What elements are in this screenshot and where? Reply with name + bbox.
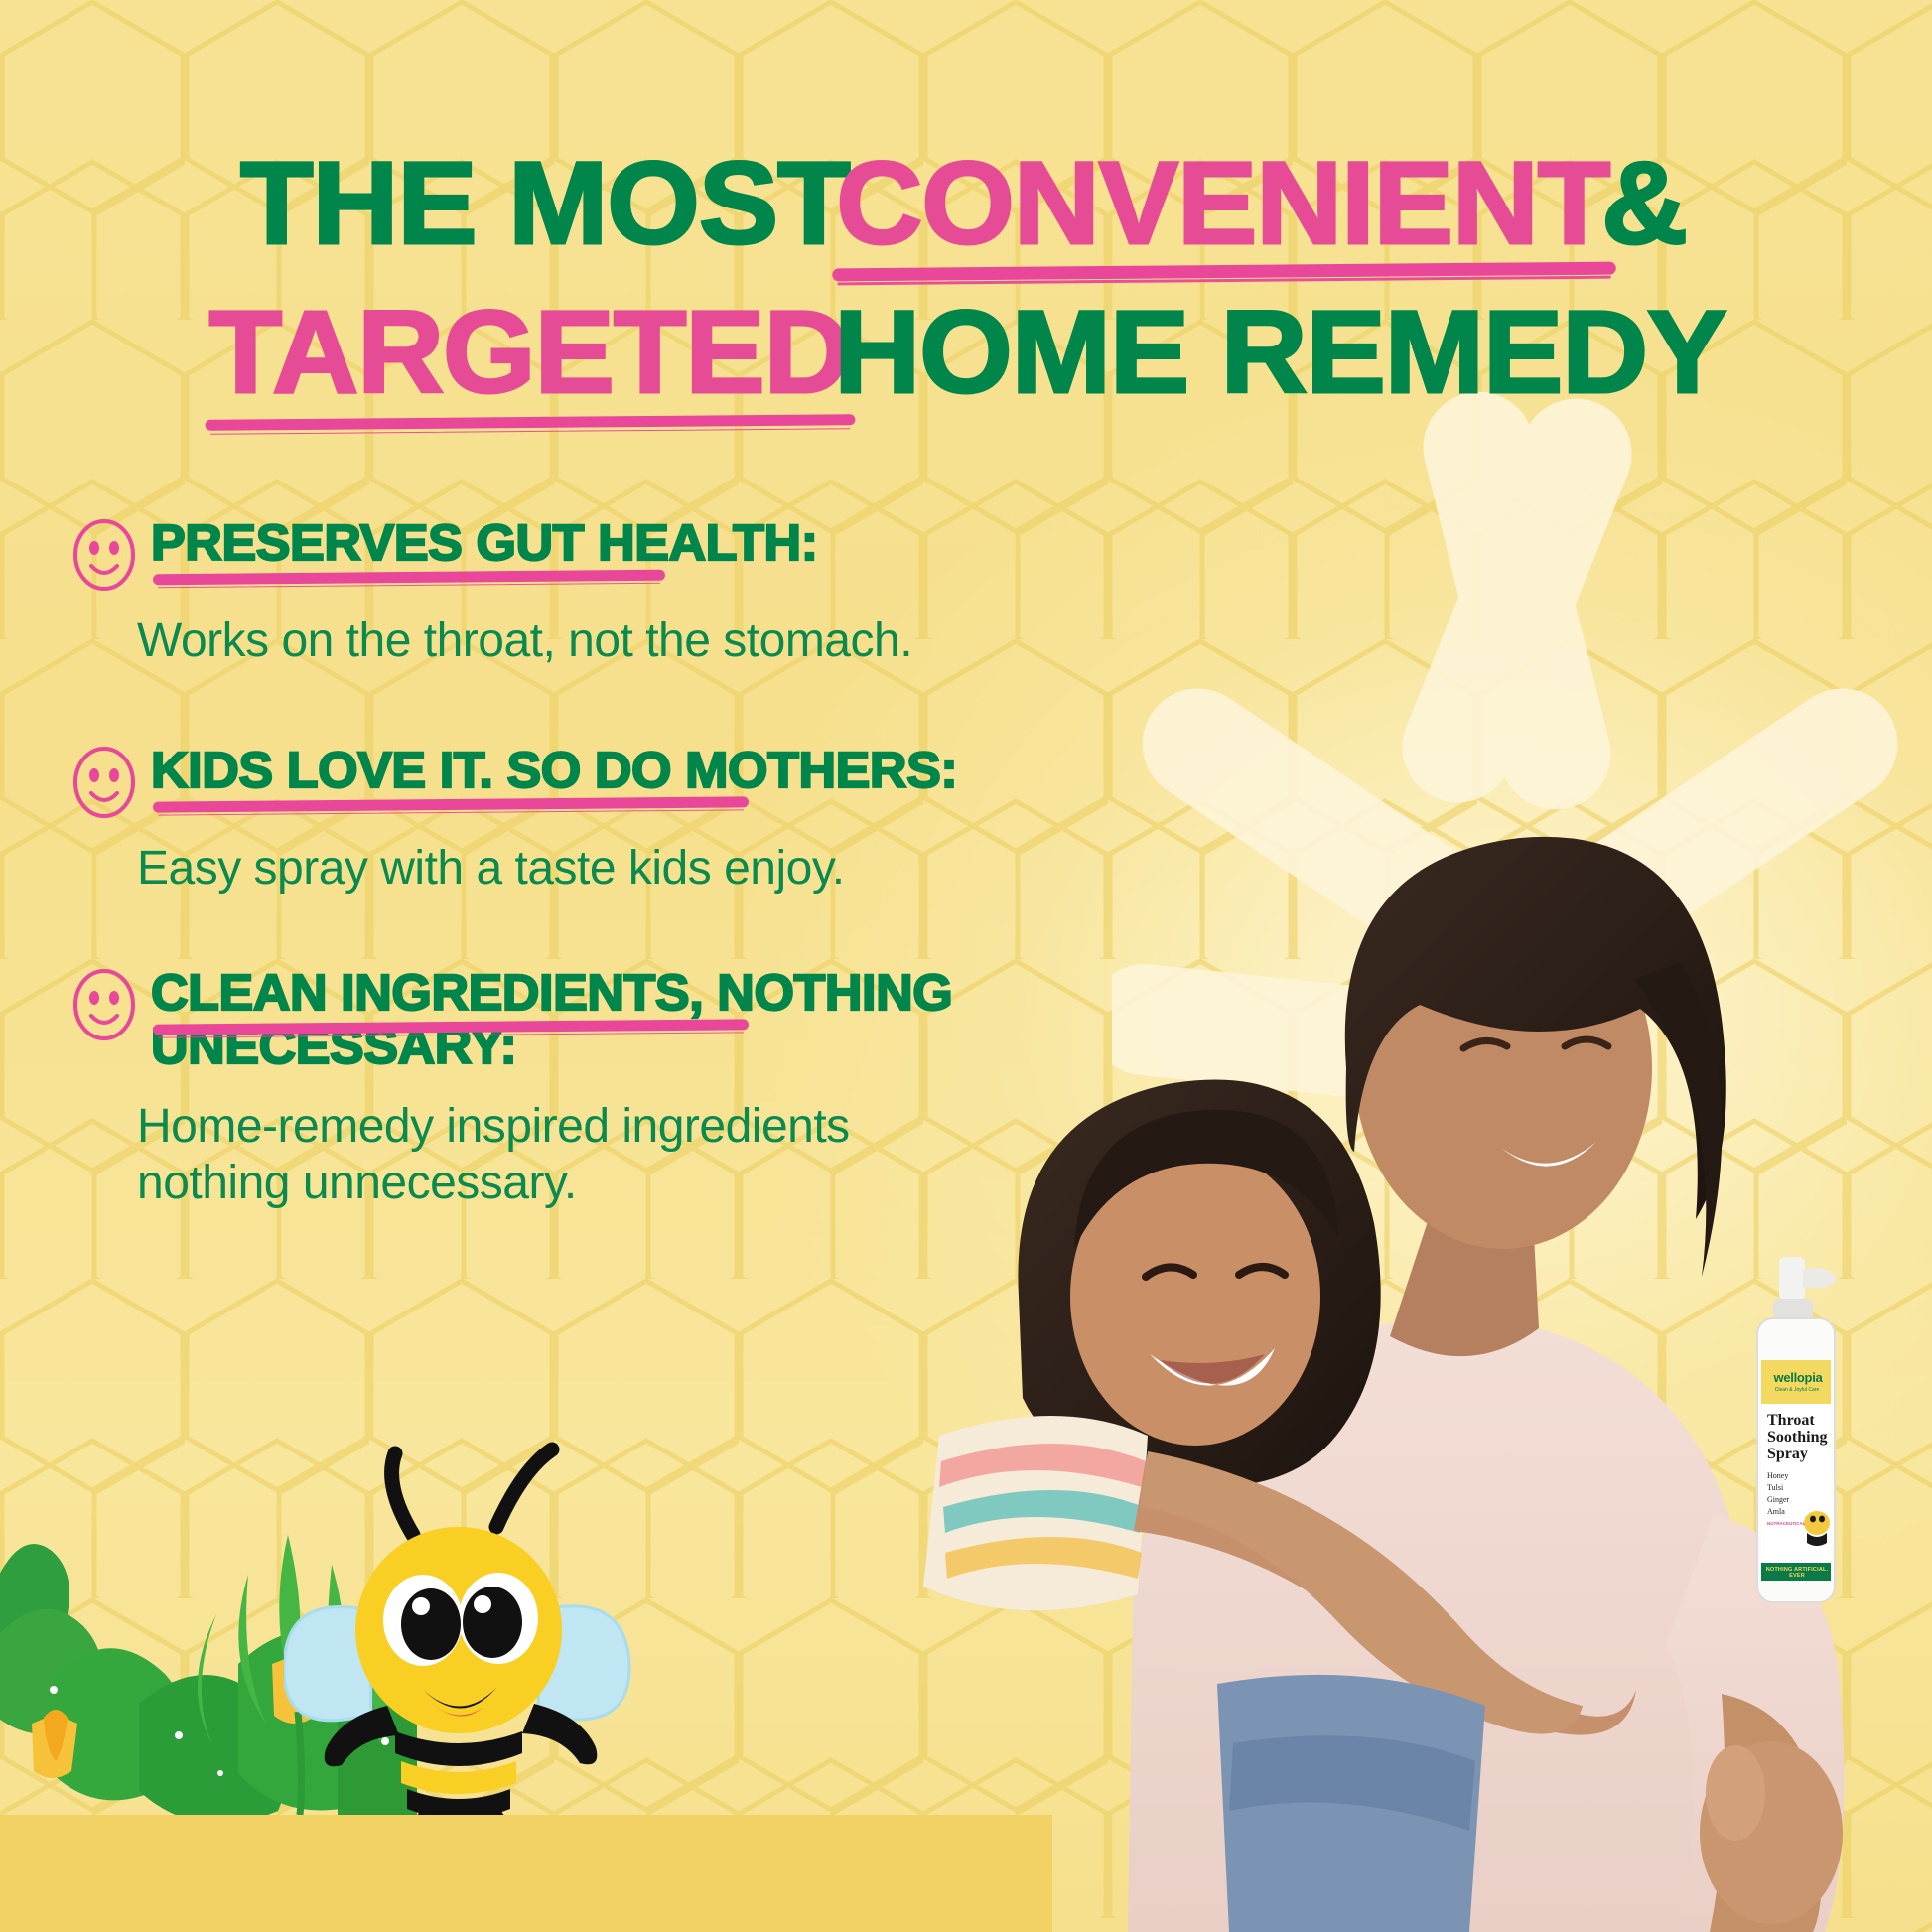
bottle-brand: wellopia xyxy=(1767,1370,1829,1385)
bottle-name-line3: Spray xyxy=(1767,1446,1808,1463)
bee-mascot xyxy=(284,1416,641,1833)
headline-convenient: CONVENIENT xyxy=(836,147,1609,262)
bottle-name-line1: Throat xyxy=(1767,1412,1815,1430)
bottle-category: NUTRACEUTICAL xyxy=(1767,1521,1806,1526)
benefit-heading: PRESERVES GUT HEALTH: xyxy=(151,516,818,570)
headline-home-remedy: HOME REMEDY xyxy=(834,296,1725,411)
bottle-ingredient-amla: Amla xyxy=(1767,1507,1785,1516)
mother-and-daughter-photo xyxy=(880,512,1932,1932)
headline-line-2: TARGETED HOME REMEDY xyxy=(0,296,1932,411)
bottle-ingredient-ginger: Ginger xyxy=(1767,1495,1789,1504)
bottle-tagline: Clean & Joyful Care xyxy=(1763,1387,1831,1393)
product-bottle: wellopia Clean & Joyful Care Throat Soot… xyxy=(1729,1253,1861,1610)
headline-line-1: THE MOST CONVENIENT & xyxy=(0,147,1932,262)
headline-targeted: TARGETED xyxy=(208,296,849,411)
smiley-face-icon xyxy=(71,968,137,1041)
bottle-name-line2: Soothing xyxy=(1767,1429,1827,1447)
smiley-face-icon xyxy=(71,746,137,819)
promo-poster: THE MOST CONVENIENT & TARGETED HOME REME… xyxy=(0,0,1932,1932)
bottom-band xyxy=(0,1815,1052,1932)
underline-stroke xyxy=(153,796,749,812)
headline-the-most: THE MOST xyxy=(240,147,850,262)
page-title: THE MOST CONVENIENT & TARGETED HOME REME… xyxy=(0,147,1932,410)
bottle-ingredient-tulsi: Tulsi xyxy=(1767,1483,1783,1492)
headline-ampersand: & xyxy=(1601,147,1687,262)
underline-stroke xyxy=(153,570,665,586)
benefit-heading: KIDS LOVE IT. SO DO MOTHERS: xyxy=(151,744,957,797)
bottle-banner: NOTHING ARTIFICIAL. EVER xyxy=(1763,1567,1831,1579)
bottle-ingredient-honey: Honey xyxy=(1767,1471,1788,1480)
smiley-face-icon xyxy=(71,518,137,592)
